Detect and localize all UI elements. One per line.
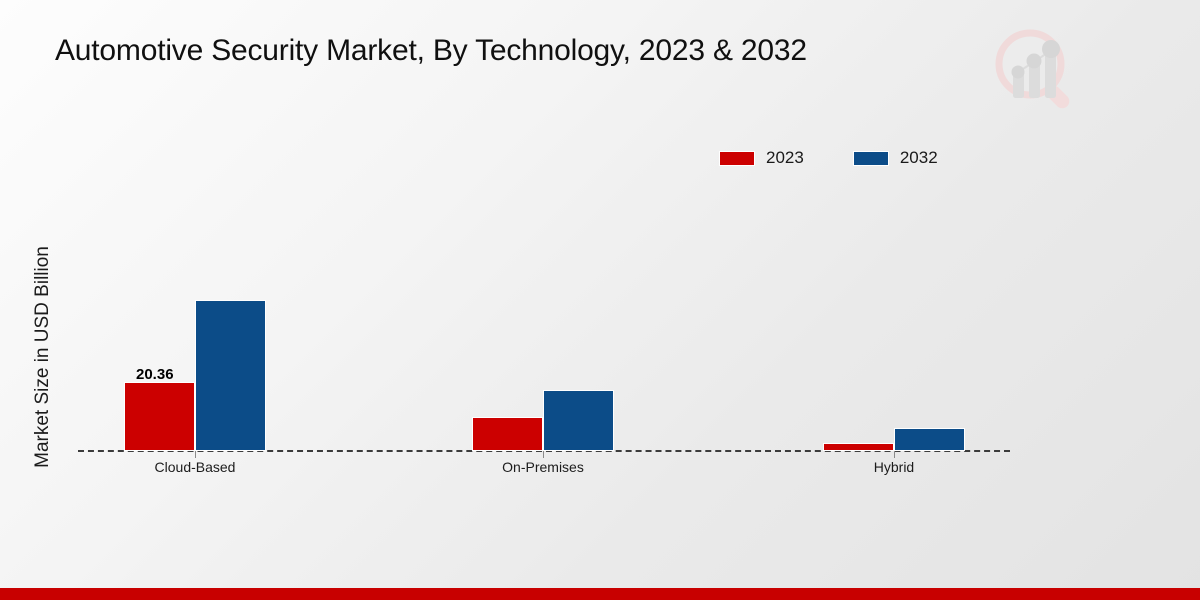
x-label-on-premises: On-Premises: [502, 459, 584, 475]
bar-2032-on-premises[interactable]: [543, 390, 614, 451]
bar-2023-cloud-based[interactable]: [124, 382, 195, 451]
bar-2023-on-premises[interactable]: [472, 417, 543, 451]
bar-value-2023-cloud-based: 20.36: [136, 366, 174, 383]
plot-area: 20.36 Cloud-Based On-Premises Hybrid: [0, 0, 1200, 600]
x-label-hybrid: Hybrid: [874, 459, 914, 475]
x-label-cloud-based: Cloud-Based: [155, 459, 236, 475]
bar-2023-hybrid[interactable]: [823, 443, 894, 451]
x-tick-on-premises: [543, 451, 544, 458]
chart-page: Automotive Security Market, By Technolog…: [0, 0, 1200, 600]
bar-2032-cloud-based[interactable]: [195, 300, 266, 451]
x-tick-cloud-based: [195, 451, 196, 458]
bar-2032-hybrid[interactable]: [894, 428, 965, 451]
footer-accent-bar: [0, 588, 1200, 600]
x-tick-hybrid: [894, 451, 895, 458]
